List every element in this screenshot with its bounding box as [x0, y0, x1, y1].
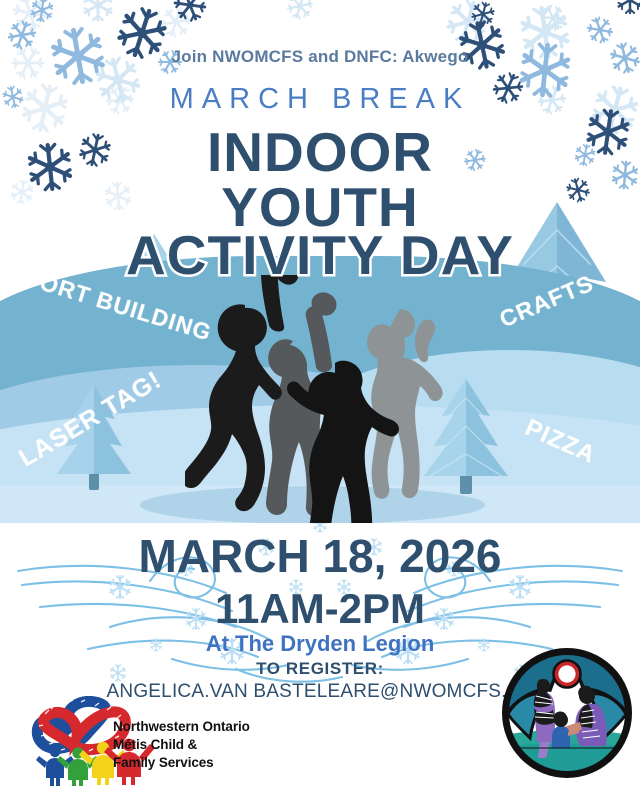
nwomcfs-logo-line-2: Métis Child &: [113, 736, 250, 754]
kicker-march-break: MARCH BREAK: [0, 83, 640, 116]
event-time: 11AM-2PM: [0, 585, 640, 633]
page-title-line-3: ACTIVITY DAY: [0, 228, 640, 283]
nwomcfs-logo-line-1: Northwestern Ontario: [113, 718, 250, 736]
event-date: MARCH 18, 2026: [0, 529, 640, 583]
poster-canvas: Join NWOMCFS and DNFC: Akwego MARCH BREA…: [0, 0, 640, 800]
child-silhouette-4: [367, 309, 443, 499]
nwomcfs-logo-text: Northwestern Ontario Métis Child & Famil…: [113, 718, 250, 771]
jumping-children-silhouettes: [185, 275, 470, 523]
page-title-line-1: INDOOR: [0, 125, 640, 180]
join-line: Join NWOMCFS and DNFC: Akwego: [0, 47, 640, 67]
nwomcfs-logo-line-3: Family Services: [113, 754, 250, 772]
dnfc-logo: [498, 644, 636, 782]
